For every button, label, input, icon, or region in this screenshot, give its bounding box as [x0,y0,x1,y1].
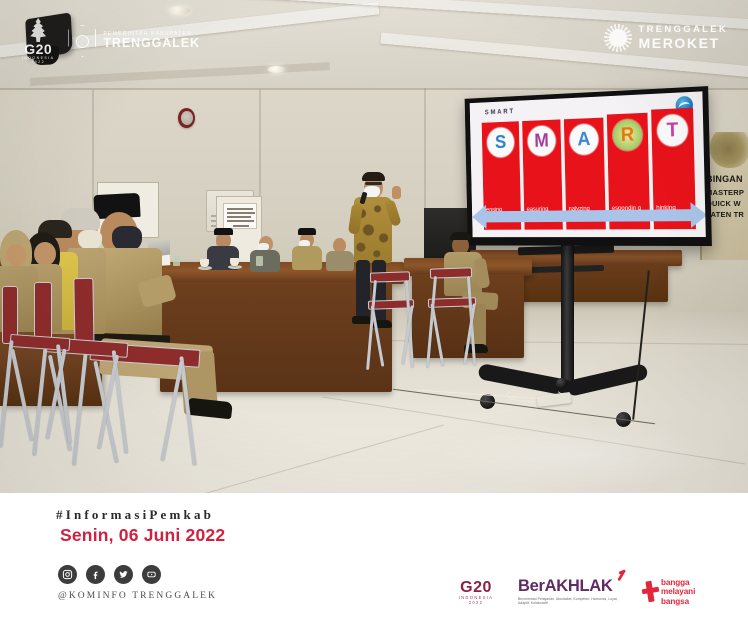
banner-line-2: MASTERP [706,188,744,197]
social-links [58,565,161,584]
berakhlak-wordmark: BerAKHLAK [518,578,626,595]
smart-cards-row: S ensing M easuring A nalyzing R espondi… [482,114,696,230]
letter-bubble: A [569,124,598,156]
smart-card: R espondin g [607,113,650,230]
wall-seam [424,88,426,228]
face-mask [78,230,102,250]
post-date: Senin, 06 Juni 2022 [60,525,225,546]
bangga-melayani-bangsa-logo: bangga melayani bangsa [642,578,734,606]
g20-ornament-icon [27,18,49,42]
raised-hand [392,186,401,199]
photo-overlay-branding-right: TRENGGALEK MEROKET [604,24,729,52]
partner-logos: G20 INDONESIA 2022 BerAKHLAK Berorientas… [450,551,734,606]
g20-year: 2022 [22,60,54,64]
photo-overlay-branding-left: G20 INDONESIA 2022 PEMERINTAH KABUPATEN … [22,18,200,64]
trenggalek-crest-icon [68,25,96,57]
meroket-sunburst-icon [604,24,632,52]
smart-card: S ensing [482,121,521,230]
berakhlak-subtitle: Berorientasi Pelayanan, Akuntabel, Kompe… [518,597,626,606]
tv-stand-pole [561,244,574,384]
social-handle: @KOMINFO TRENGGALEK [58,591,217,601]
instagram-icon[interactable] [58,565,77,584]
slide-content: SMART KOMINFO S ensing M easuring A [470,91,706,237]
ceiling-light [168,6,190,15]
smart-card-label: easuring [524,205,551,212]
bangga-line-3: bangsa [661,597,695,606]
bangga-wordmark: bangga melayani bangsa [661,578,695,606]
hair [362,172,385,181]
smart-card: A nalyzing [564,118,606,230]
presentation-display: SMART KOMINFO S ensing M easuring A [465,86,712,246]
g20-logo-footer: G20 INDONESIA 2022 [450,551,502,606]
coffee-cup [230,258,239,266]
poster [223,203,257,229]
event-photograph: BINGAN MASTERP QUICK W PATEN TR [0,0,748,493]
smart-card: T hinking [651,108,696,229]
drinking-glass [173,256,180,266]
ceiling-beam [30,62,330,86]
letter-bubble: S [487,127,515,158]
hair [450,232,471,240]
post-footer: #InformasiPemkab Senin, 06 Juni 2022 [0,493,748,638]
bangga-mark-icon [642,581,659,602]
berakhlak-prefix: Ber [518,577,545,595]
ceiling-light [268,66,285,73]
berakhlak-logo: BerAKHLAK Berorientasi Pelayanan, Akunta… [518,578,626,606]
smart-card-label: nalyzing [566,205,593,212]
facebook-icon[interactable] [86,565,105,584]
meroket-line-2: MEROKET [639,36,729,51]
letter-bubble: M [527,125,555,156]
banner-line-4: PATEN TR [706,210,744,219]
shoe [352,316,372,324]
banner-line-1: BINGAN [706,174,743,184]
smart-card: M easuring [522,119,563,229]
g20-logo-overlay: G20 INDONESIA 2022 [22,18,54,64]
garuda-emblem [710,132,748,168]
smart-card-label: hinking [653,204,678,212]
banner-line-3: QUICK W [706,199,741,208]
stand-caster [556,378,567,389]
govt-label-small: PEMERINTAH KABUPATEN [103,31,200,37]
g20-year: 2022 [450,600,502,605]
social-media-post-card: BINGAN MASTERP QUICK W PATEN TR [0,0,748,638]
coffee-cup [200,259,209,267]
govt-logo-overlay: PEMERINTAH KABUPATEN TRENGGALEK [68,25,200,57]
floor-reflection [430,420,730,490]
eyeglasses [365,182,382,185]
govt-label-big: TRENGGALEK [103,37,200,51]
hashtag-label: #InformasiPemkab [56,507,214,523]
smart-card-label: espondin g [609,204,644,212]
bangga-line-2: melayani [661,587,695,596]
berakhlak-acronym: AKHLAK [545,577,613,595]
check-swoosh-icon [617,569,630,582]
drinking-glass [256,256,263,266]
letter-bubble: R [612,119,642,151]
youtube-icon[interactable] [142,565,161,584]
g20-ornament-icon [463,551,489,579]
leg [356,260,370,320]
twitter-icon[interactable] [114,565,133,584]
bangga-line-1: bangga [661,578,695,587]
g20-wordmark: G20 [450,580,502,595]
g20-wordmark: G20 [22,43,54,56]
letter-bubble: T [657,114,688,147]
smart-card-label: ensing [484,206,505,213]
slide-header-smart: SMART [485,108,515,116]
wall-clock [178,108,195,128]
